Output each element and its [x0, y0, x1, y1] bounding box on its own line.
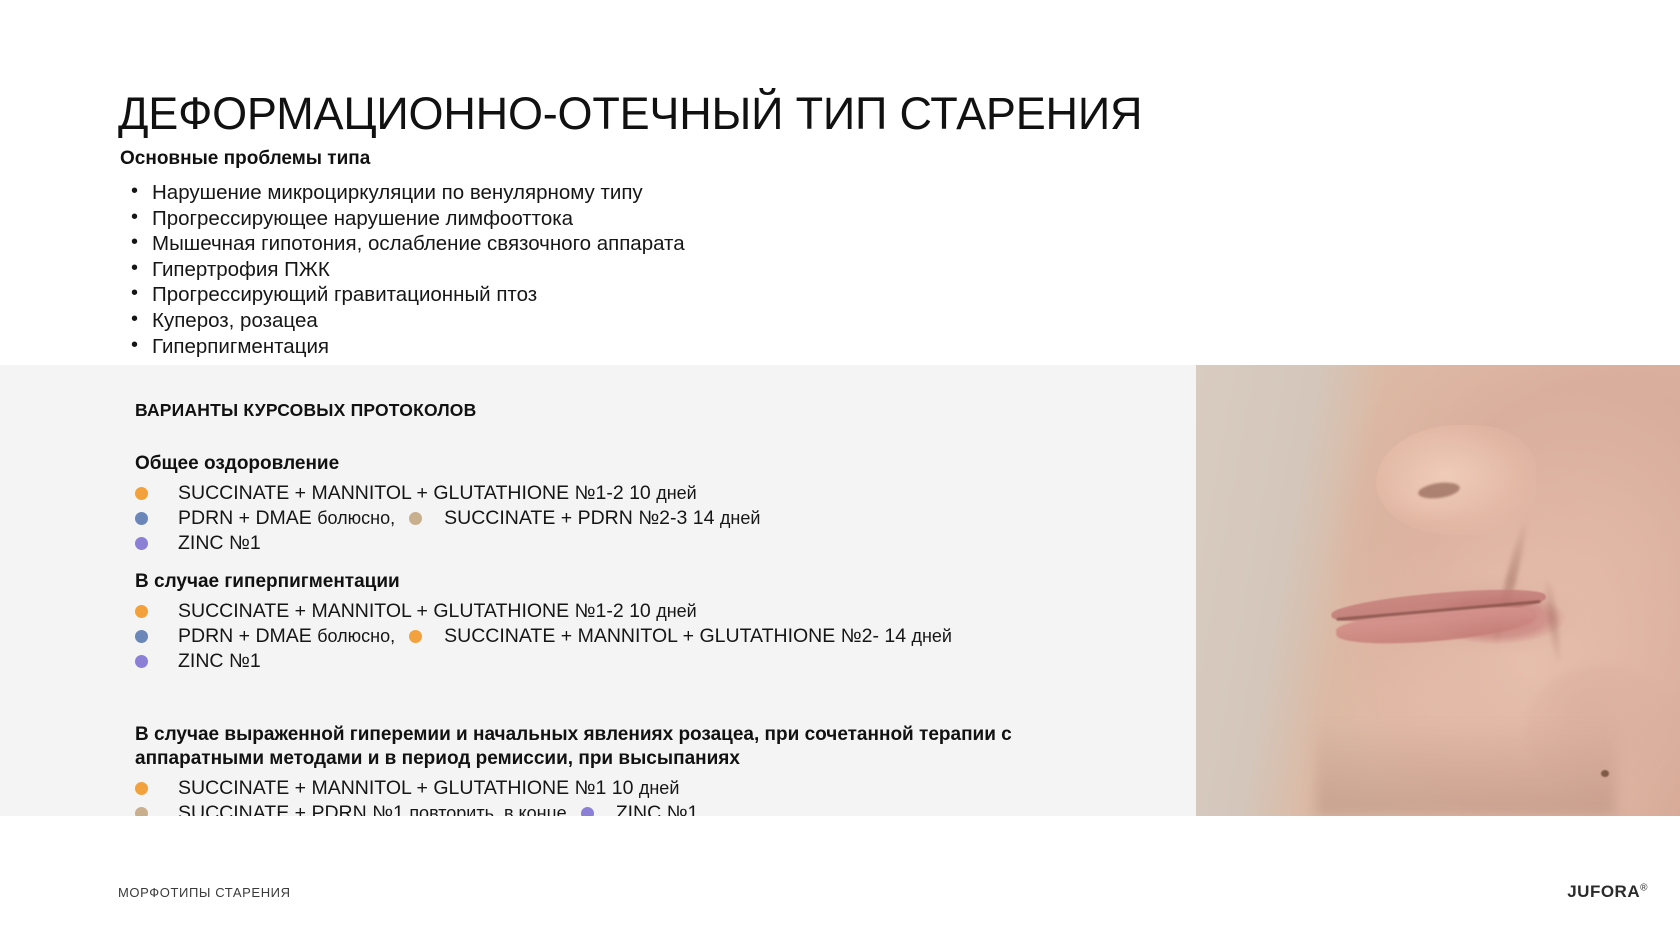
- protocol-text: SUCCINATE + PDRN №2-3 14 дней: [444, 506, 760, 531]
- photo-nose: [1376, 425, 1536, 535]
- protocol-row: PDRN + DMAE болюсно,SUCCINATE + PDRN №2-…: [135, 506, 760, 531]
- protocol-text-latin: SUCCINATE + MANNITOL + GLUTATHIONE №1-2 …: [178, 600, 656, 622]
- protocol-block-title: В случае гиперпигментации: [135, 570, 952, 594]
- bullet-dot-orange-icon: [135, 605, 148, 618]
- problem-item: Гипертрофия ПЖК: [122, 257, 685, 283]
- protocol-text: PDRN + DMAE болюсно,: [178, 624, 395, 649]
- protocol-block-title: В случае выраженной гиперемии и начальны…: [135, 723, 1035, 771]
- bullet-dot-orange-icon: [409, 630, 422, 643]
- protocol-text-latin: SUCCINATE + PDRN №2-3 14: [444, 507, 720, 529]
- protocol-text-ru: дней: [639, 778, 680, 798]
- protocol-text-latin: SUCCINATE + MANNITOL + GLUTATHIONE №2- 1…: [444, 625, 911, 647]
- protocol-text: SUCCINATE + MANNITOL + GLUTATHIONE №2- 1…: [444, 624, 952, 649]
- problem-item: Прогрессирующее нарушение лимфооттока: [122, 206, 685, 232]
- protocol-text: ZINC №1: [178, 531, 261, 556]
- footer-series-label: МОРФОТИПЫ СТАРЕНИЯ: [118, 885, 291, 900]
- protocol-text: SUCCINATE + MANNITOL + GLUTATHIONE №1-2 …: [178, 599, 697, 624]
- problem-item: Купероз, розацеа: [122, 308, 685, 334]
- protocol-text: ZINC №1: [178, 649, 261, 674]
- protocol-block: Общее оздоровлениеSUCCINATE + MANNITOL +…: [135, 452, 760, 556]
- protocol-row: SUCCINATE + MANNITOL + GLUTATHIONE №1 10…: [135, 776, 1035, 801]
- model-face-photo: [1196, 365, 1680, 816]
- bullet-dot-orange-icon: [135, 487, 148, 500]
- slide-root: ДЕФОРМАЦИОННО-ОТЕЧНЫЙ ТИП СТАРЕНИЯ Основ…: [0, 0, 1680, 945]
- protocol-text-ru: болюсно,: [317, 508, 395, 528]
- protocol-text-latin: SUCCINATE + MANNITOL + GLUTATHIONE №1 10: [178, 777, 639, 799]
- protocol-text: SUCCINATE + MANNITOL + GLUTATHIONE №1-2 …: [178, 481, 697, 506]
- page-title: ДЕФОРМАЦИОННО-ОТЕЧНЫЙ ТИП СТАРЕНИЯ: [118, 88, 1142, 140]
- problems-list: Нарушение микроциркуляции по венулярному…: [122, 180, 685, 359]
- problem-item: Гиперпигментация: [122, 334, 685, 360]
- protocol-text-ru: дней: [656, 483, 697, 503]
- protocol-text-ru: дней: [911, 626, 952, 646]
- problems-heading: Основные проблемы типа: [120, 148, 370, 170]
- protocol-row: ZINC №1: [135, 649, 952, 674]
- protocol-text: SUCCINATE + MANNITOL + GLUTATHIONE №1 10…: [178, 776, 679, 801]
- brand-name: JUFORA: [1567, 882, 1640, 901]
- problem-item: Прогрессирующий гравитационный птоз: [122, 282, 685, 308]
- protocol-text-latin: PDRN + DMAE: [178, 507, 317, 529]
- bullet-dot-purple-icon: [135, 537, 148, 550]
- protocols-heading: ВАРИАНТЫ КУРСОВЫХ ПРОТОКОЛОВ: [135, 400, 476, 421]
- problem-item: Мышечная гипотония, ослабление связочног…: [122, 231, 685, 257]
- protocol-row: SUCCINATE + MANNITOL + GLUTATHIONE №1-2 …: [135, 599, 952, 624]
- protocol-block-title: Общее оздоровление: [135, 452, 760, 476]
- protocol-text-latin: ZINC №1: [178, 532, 261, 554]
- bullet-dot-purple-icon: [135, 655, 148, 668]
- registered-mark-icon: ®: [1640, 882, 1648, 893]
- protocol-text-latin: SUCCINATE + MANNITOL + GLUTATHIONE №1-2 …: [178, 482, 656, 504]
- protocol-text-latin: PDRN + DMAE: [178, 625, 317, 647]
- problem-item: Нарушение микроциркуляции по венулярному…: [122, 180, 685, 206]
- protocol-text-latin: ZINC №1: [178, 650, 261, 672]
- protocol-row: ZINC №1: [135, 531, 760, 556]
- protocol-row: PDRN + DMAE болюсно,SUCCINATE + MANNITOL…: [135, 624, 952, 649]
- protocol-text-ru: болюсно,: [317, 626, 395, 646]
- photo-marionette-line: [1542, 573, 1563, 663]
- footer: МОРФОТИПЫ СТАРЕНИЯ JUFORA®: [0, 816, 1680, 945]
- top-section: ДЕФОРМАЦИОННО-ОТЕЧНЫЙ ТИП СТАРЕНИЯ Основ…: [0, 0, 1680, 365]
- bullet-dot-blue-icon: [135, 630, 148, 643]
- protocol-block: В случае гиперпигментацииSUCCINATE + MAN…: [135, 570, 952, 674]
- photo-skin-base: [1196, 365, 1680, 816]
- brand-logo: JUFORA®: [1567, 882, 1648, 902]
- protocol-block: В случае выраженной гиперемии и начальны…: [135, 723, 1035, 826]
- bullet-dot-orange-icon: [135, 782, 148, 795]
- protocol-text-ru: дней: [656, 601, 697, 621]
- photo-neck-shadow: [1316, 721, 1616, 816]
- bullet-dot-blue-icon: [135, 512, 148, 525]
- protocol-row: SUCCINATE + MANNITOL + GLUTATHIONE №1-2 …: [135, 481, 760, 506]
- protocol-text: PDRN + DMAE болюсно,: [178, 506, 395, 531]
- protocol-text-ru: дней: [720, 508, 761, 528]
- bullet-dot-tan-icon: [409, 512, 422, 525]
